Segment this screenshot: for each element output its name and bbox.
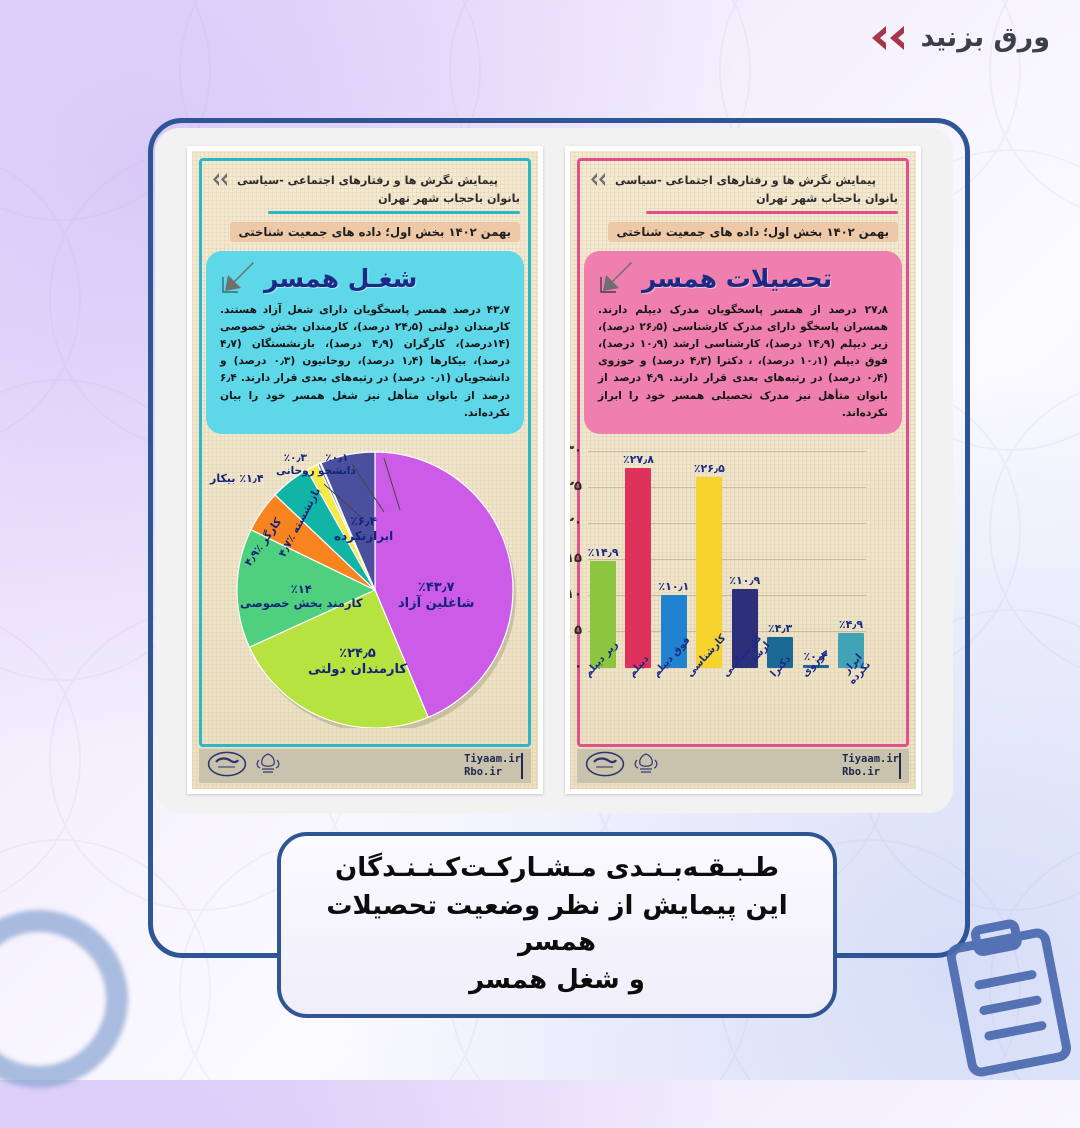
pie-chart-slice-label: ٪۰٫۳روحانی xyxy=(276,452,315,478)
header-line-2: بانوان باحجاب شهر تهران xyxy=(210,190,520,207)
double-chevron-icon xyxy=(588,171,608,190)
header-line-1: پیمایش نگرش ها و رفتارهای اجتماعی -سیاسی xyxy=(615,172,876,189)
bar-chart-value-label: ٪۱۰٫۱ xyxy=(658,580,689,593)
footer-logos xyxy=(207,751,283,781)
pie-chart-slice-label: ٪۱۴کارمند بخش خصوصی xyxy=(240,582,363,611)
footer-logos xyxy=(585,751,661,781)
bar-chart-plot: ۰۵۱۰۱۵۲۰۲۵۳۰٪۱۴٫۹٪۲۷٫۸٪۱۰٫۱٪۲۶٫۵٪۱۰٫۹٪۴٫… xyxy=(588,452,866,668)
card-education-body: ۲۷٫۸ درصد از همسر پاسخگویان مدرک دیپلم د… xyxy=(598,302,888,422)
pie-chart-slice-label: ٪۱٫۴ بیکار xyxy=(210,472,264,486)
footer-urls[interactable]: Tiyaam.ir Rbo.ir xyxy=(836,753,901,779)
caption-box: طـبـقـه‌بـنـدی مـشـارکـت‌کـنـنـدگان این … xyxy=(277,832,837,1018)
bar-chart-x-label: زیر دیپلم xyxy=(590,670,616,724)
pie-chart-slice-label: ٪۴۳٫۷شاغلین آزاد xyxy=(398,580,474,613)
bar-chart-value-label: ٪۲۶٫۵ xyxy=(694,462,725,475)
header-line-2: بانوان باحجاب شهر تهران xyxy=(588,190,898,207)
bar-chart-y-tick: ۲۵ xyxy=(570,479,582,494)
bar-chart-y-tick: ۱۵ xyxy=(570,551,582,566)
card-job-title: شغـل همسر xyxy=(264,264,417,293)
bar-chart-x-label: دکترا xyxy=(767,670,793,724)
pie-chart: ٪۴۳٫۷شاغلین آزاد٪۲۴٫۵کارمندان دولتی٪۱۴کا… xyxy=(202,440,528,728)
double-chevron-left-icon xyxy=(864,25,910,51)
pie-chart-slice-label: ٪۰٫۱دانشجو xyxy=(318,452,356,478)
footer-url-1[interactable]: Tiyaam.ir xyxy=(464,753,521,766)
header-tagline: بهمن ۱۴۰۲ بخش اول؛ داده های جمعیت شناختی xyxy=(608,222,898,242)
bar-chart-x-label: حوزوی xyxy=(803,670,829,724)
bar-chart-value-label: ٪۱۰٫۹ xyxy=(729,574,760,587)
card-job[interactable]: پیمایش نگرش ها و رفتارهای اجتماعی -سیاسی… xyxy=(187,146,543,794)
bar-chart-x-label: کارشناسی xyxy=(696,670,722,724)
bar-chart-x-label: دیپلم xyxy=(625,670,651,724)
header-divider xyxy=(646,211,898,214)
tiyaam-oval-logo xyxy=(207,751,247,781)
footer-url-1[interactable]: Tiyaam.ir xyxy=(842,753,899,766)
card-job-header: پیمایش نگرش ها و رفتارهای اجتماعی -سیاسی… xyxy=(192,151,538,242)
arrow-down-left-icon xyxy=(598,259,636,299)
caption-line-1: طـبـقـه‌بـنـدی مـشـارکـت‌کـنـنـدگان xyxy=(335,851,779,887)
bar-chart-bar-column[interactable]: ٪۰٫۴ xyxy=(803,452,829,668)
bar-chart-y-tick: ۰ xyxy=(574,659,582,674)
flower-emblem-logo xyxy=(253,751,283,781)
card-job-banner: شغـل همسر ۴۳٫۷ درصد همسر پاسخگویان دارای… xyxy=(206,251,524,434)
card-education[interactable]: پیمایش نگرش ها و رفتارهای اجتماعی -سیاسی… xyxy=(565,146,921,794)
bar-chart-bar-column[interactable]: ٪۱۴٫۹ xyxy=(590,452,616,668)
bar-chart-bar-column[interactable]: ٪۴٫۳ xyxy=(767,452,793,668)
pie-chart-slice-label: ٪۲۴٫۵کارمندان دولتی xyxy=(308,646,407,679)
bar-chart-value-label: ٪۱۴٫۹ xyxy=(588,546,619,559)
header-tagline: بهمن ۱۴۰۲ بخش اول؛ داده های جمعیت شناختی xyxy=(230,222,520,242)
bar-chart-value-label: ٪۲۷٫۸ xyxy=(623,453,654,466)
flower-emblem-logo xyxy=(631,751,661,781)
bar-chart-y-tick: ۲۰ xyxy=(570,515,582,530)
bar-chart-value-label: ٪۴٫۹ xyxy=(839,618,863,631)
bar-chart-y-tick: ۳۰ xyxy=(570,443,582,458)
bar-chart-y-tick: ۵ xyxy=(574,623,582,638)
bar-chart-bar-column[interactable]: ٪۴٫۹ xyxy=(838,452,864,668)
bar-chart-x-label: فوق دیپلم xyxy=(661,670,687,724)
card-job-body: ۴۳٫۷ درصد همسر پاسخگویان دارای شغل آزاد … xyxy=(220,302,510,422)
caption-line-3: و شغل همسر xyxy=(469,963,645,999)
header-divider xyxy=(268,211,520,214)
bar-chart-y-tick: ۱۰ xyxy=(570,587,582,602)
swipe-hint: ورق بزنید xyxy=(864,22,1050,53)
bar-chart-bar-column[interactable]: ٪۲۷٫۸ xyxy=(625,452,651,668)
bar-chart-bars: ٪۱۴٫۹٪۲۷٫۸٪۱۰٫۱٪۲۶٫۵٪۱۰٫۹٪۴٫۳٪۰٫۴٪۴٫۹ xyxy=(588,452,866,668)
double-chevron-icon xyxy=(210,171,230,190)
card-education-banner: تحصیلات همسر ۲۷٫۸ درصد از همسر پاسخگویان… xyxy=(584,251,902,434)
card-job-footer: Tiyaam.ir Rbo.ir xyxy=(199,749,531,783)
pie-chart-slice-label: ٪۶٫۴ابرازنکرده xyxy=(334,514,393,544)
footer-urls[interactable]: Tiyaam.ir Rbo.ir xyxy=(458,753,523,779)
header-line-1: پیمایش نگرش ها و رفتارهای اجتماعی -سیاسی xyxy=(237,172,498,189)
footer-url-2[interactable]: Rbo.ir xyxy=(464,766,521,779)
card-education-header: پیمایش نگرش ها و رفتارهای اجتماعی -سیاسی… xyxy=(570,151,916,242)
card-education-footer: Tiyaam.ir Rbo.ir xyxy=(577,749,909,783)
bar-chart-x-label: ابرازنکرده xyxy=(838,670,864,724)
caption-line-2: این پیمایش از نظر وضعیت تحصیلات همسر xyxy=(307,889,807,961)
arrow-down-left-icon xyxy=(220,259,258,299)
bar-chart: ۰۵۱۰۱۵۲۰۲۵۳۰٪۱۴٫۹٪۲۷٫۸٪۱۰٫۱٪۲۶٫۵٪۱۰٫۹٪۴٫… xyxy=(584,446,900,724)
cards-panel: پیمایش نگرش ها و رفتارهای اجتماعی -سیاسی… xyxy=(155,128,953,813)
bar-chart-x-label: کارشناسیارشد xyxy=(732,670,758,724)
bar-chart-bar[interactable] xyxy=(625,468,651,668)
footer-url-2[interactable]: Rbo.ir xyxy=(842,766,899,779)
tiyaam-oval-logo xyxy=(585,751,625,781)
bar-chart-x-axis: زیر دیپلمدیپلمفوق دیپلمکارشناسیکارشناسیا… xyxy=(588,670,866,724)
card-education-title: تحصیلات همسر xyxy=(642,264,832,293)
swipe-hint-label: ورق بزنید xyxy=(920,22,1050,53)
bar-chart-value-label: ٪۴٫۳ xyxy=(768,622,792,635)
